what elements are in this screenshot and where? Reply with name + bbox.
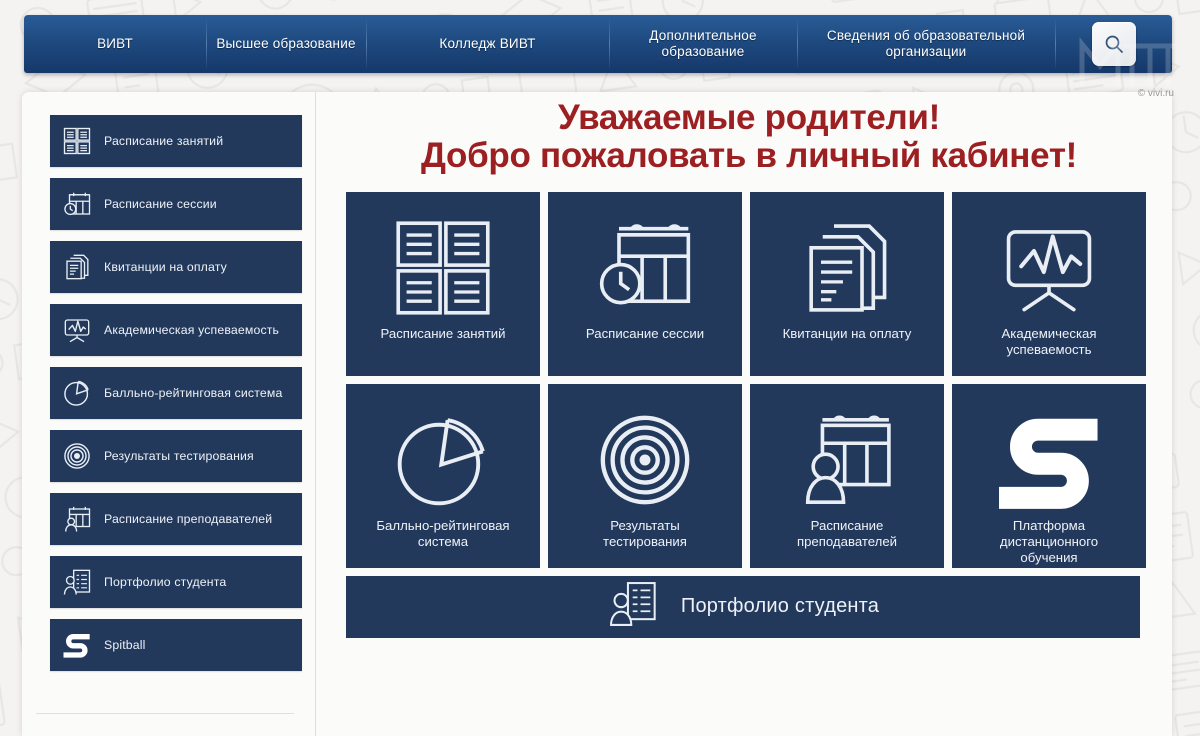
main-content: Уважаемые родители! Добро пожаловать в л…	[316, 92, 1172, 736]
tile-label: Академическаяуспеваемость	[994, 326, 1105, 358]
sidebar-item-session-schedule[interactable]: Расписание сессии	[50, 178, 302, 230]
tile-academic-performance[interactable]: Академическаяуспеваемость	[952, 192, 1146, 376]
calendar-person-icon	[59, 501, 95, 537]
sidebar-item-label: Академическая успеваемость	[104, 323, 279, 337]
sidebar-item-class-schedule[interactable]: Расписание занятий	[50, 115, 302, 167]
banner-student-portfolio[interactable]: Портфолио студента	[346, 576, 1140, 638]
sidebar-item-label: Расписание сессии	[104, 197, 217, 211]
documents-stack-icon	[59, 249, 95, 285]
grid-lists-icon	[59, 123, 95, 159]
sidebar-item-label: Балльно-рейтинговая система	[104, 386, 282, 400]
nav-item-label: Колледж ВИВТ	[439, 36, 535, 52]
sidebar-item-student-portfolio[interactable]: Портфолио студента	[50, 556, 302, 608]
tile-rating-system[interactable]: Балльно-рейтинговаясистема	[346, 384, 540, 568]
documents-stack-icon	[795, 214, 899, 322]
sidebar-item-label: Портфолио студента	[104, 575, 226, 589]
tile-label: Расписание сессии	[578, 326, 712, 342]
nav-item-label: Дополнительное образование	[617, 28, 789, 60]
nav-item-organization-info[interactable]: Сведения об образовательной организации	[797, 15, 1055, 73]
pie-chart-icon	[59, 375, 95, 411]
target-rings-icon	[59, 438, 95, 474]
chart-board-icon	[59, 312, 95, 348]
tile-label: Квитанции на оплату	[775, 326, 920, 342]
nav-item-label: ВИВТ	[97, 36, 133, 52]
tile-class-schedule[interactable]: Расписание занятий	[346, 192, 540, 376]
tile-label: Балльно-рейтинговаясистема	[368, 518, 517, 550]
calendar-clock-icon	[593, 214, 697, 322]
sidebar-item-rating-system[interactable]: Балльно-рейтинговая система	[50, 367, 302, 419]
service-tile-grid: Расписание занятий Расписание сессии	[346, 192, 1152, 568]
sidebar-item-label: Результаты тестирования	[104, 449, 254, 463]
nav-item-college[interactable]: Колледж ВИВТ	[366, 15, 609, 73]
target-rings-icon	[593, 406, 697, 514]
headline-line-1: Уважаемые родители!	[346, 100, 1152, 136]
nav-item-label: Сведения об образовательной организации	[805, 28, 1047, 60]
tile-label: Расписание занятий	[373, 326, 514, 342]
grid-lists-icon	[391, 214, 495, 322]
sidebar-item-payment-receipts[interactable]: Квитанции на оплату	[50, 241, 302, 293]
sidebar-divider	[36, 713, 294, 714]
nav-item-label: Высшее образование	[216, 36, 355, 52]
sidebar-item-label: Квитанции на оплату	[104, 260, 227, 274]
person-checklist-icon	[59, 564, 95, 600]
tile-session-schedule[interactable]: Расписание сессии	[548, 192, 742, 376]
spitball-s-icon	[997, 406, 1101, 514]
nav-item-vivt[interactable]: ВИВТ	[24, 15, 206, 73]
chart-board-icon	[997, 214, 1101, 322]
nav-item-higher-education[interactable]: Высшее образование	[206, 15, 366, 73]
sidebar-menu: Расписание занятий Расписание сессии	[22, 92, 316, 736]
pie-chart-icon	[391, 406, 495, 514]
spitball-s-icon	[59, 627, 95, 663]
content-card: Расписание занятий Расписание сессии	[22, 92, 1172, 736]
sidebar-item-test-results[interactable]: Результаты тестирования	[50, 430, 302, 482]
calendar-person-icon	[795, 406, 899, 514]
sidebar-item-academic-performance[interactable]: Академическая успеваемость	[50, 304, 302, 356]
top-navigation-bar: ВИВТ Высшее образование Колледж ВИВТ Доп…	[24, 15, 1172, 73]
tile-payment-receipts[interactable]: Квитанции на оплату	[750, 192, 944, 376]
search-icon	[1092, 22, 1136, 66]
tile-label: Платформадистанционногообучения	[992, 518, 1106, 566]
person-checklist-icon	[607, 578, 659, 635]
tile-test-results[interactable]: Результатытестирования	[548, 384, 742, 568]
sidebar-item-spitball[interactable]: Spitball	[50, 619, 302, 671]
tile-teacher-schedule[interactable]: Расписаниепреподавателей	[750, 384, 944, 568]
tile-label: Расписаниепреподавателей	[789, 518, 905, 550]
tile-distance-learning-platform[interactable]: Платформадистанционногообучения	[952, 384, 1146, 568]
page-headline: Уважаемые родители! Добро пожаловать в л…	[346, 98, 1152, 175]
sidebar-item-label: Расписание преподавателей	[104, 512, 272, 526]
tile-label: Результатытестирования	[595, 518, 695, 550]
search-button[interactable]	[1055, 15, 1172, 73]
sidebar-item-label: Расписание занятий	[104, 134, 223, 148]
headline-line-2: Добро пожаловать в личный кабинет!	[346, 138, 1152, 174]
banner-label: Портфолио студента	[681, 595, 879, 618]
sidebar-item-label: Spitball	[104, 638, 146, 652]
nav-item-additional-education[interactable]: Дополнительное образование	[609, 15, 797, 73]
sidebar-item-teacher-schedule[interactable]: Расписание преподавателей	[50, 493, 302, 545]
calendar-clock-icon	[59, 186, 95, 222]
